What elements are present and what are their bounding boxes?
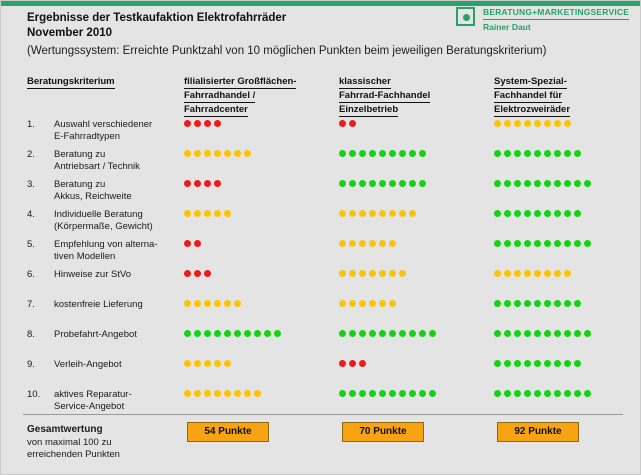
score-dot (554, 270, 561, 277)
score-dot (574, 150, 581, 157)
score-dots-column-3 (494, 180, 594, 190)
score-dot (574, 300, 581, 307)
score-dots-column-3 (494, 150, 584, 160)
colhead-0-line-0: Beratungskriterium (27, 75, 115, 89)
total-label: Gesamtwertung von maximal 100 zu erreich… (27, 424, 177, 462)
score-dot (349, 330, 356, 337)
page-title-line1: Ergebnisse der Testkaufaktion Elektrofah… (27, 11, 457, 26)
score-dot (349, 300, 356, 307)
colhead-3-line-2: Elektrozweiräder (494, 103, 570, 117)
row-number: 2. (27, 149, 35, 161)
score-dot (419, 180, 426, 187)
score-dot (399, 210, 406, 217)
score-dot (194, 240, 201, 247)
score-dot (494, 240, 501, 247)
score-dot (514, 390, 521, 397)
score-dot (369, 390, 376, 397)
score-dot (234, 390, 241, 397)
row-criterion-label: kostenfreie Lieferung (54, 299, 184, 311)
score-dot (339, 270, 346, 277)
score-dot (574, 390, 581, 397)
score-dot (184, 330, 191, 337)
score-dot (504, 210, 511, 217)
colhead-1-line-0: filialisierter Großflächen- (184, 75, 296, 89)
score-dot (184, 180, 191, 187)
score-dot (369, 240, 376, 247)
score-dot (584, 180, 591, 187)
score-dot (359, 240, 366, 247)
score-dots-column-1 (184, 240, 204, 250)
score-dot (524, 390, 531, 397)
colhead-3-line-0: System-Spezial- (494, 75, 567, 89)
score-dot (574, 210, 581, 217)
row-criterion-label-line1: Beratung zu (54, 179, 105, 190)
score-dot (544, 240, 551, 247)
row-criterion-label-line1: Auswahl verschiedener (54, 119, 152, 130)
row-number: 1. (27, 119, 35, 131)
score-dots-column-2 (339, 180, 429, 190)
score-dot (409, 210, 416, 217)
score-dot (494, 330, 501, 337)
score-dot (359, 180, 366, 187)
score-dot (514, 360, 521, 367)
score-dot (504, 270, 511, 277)
score-dot (564, 390, 571, 397)
score-dot (564, 270, 571, 277)
score-dot (224, 150, 231, 157)
column-header-filialisiert: filialisierter Großflächen- Fahrradhande… (184, 75, 296, 117)
table-row: 9.Verleih-Angebot (1, 359, 641, 389)
score-dot (494, 210, 501, 217)
score-dot (349, 150, 356, 157)
score-dot (349, 120, 356, 127)
row-criterion-label: Probefahrt-Angebot (54, 329, 184, 341)
score-dot (554, 300, 561, 307)
score-dot (409, 180, 416, 187)
score-dot (194, 120, 201, 127)
score-dot (429, 390, 436, 397)
score-dot (379, 180, 386, 187)
score-dot (369, 270, 376, 277)
score-dots-column-1 (184, 120, 224, 130)
score-dot (399, 270, 406, 277)
score-dot (429, 330, 436, 337)
score-dot (204, 120, 211, 127)
score-dot (204, 180, 211, 187)
score-dots-column-3 (494, 120, 574, 130)
score-dot (339, 300, 346, 307)
row-criterion-label: Beratung zuAkkus, Reichweite (54, 179, 184, 203)
score-dot (194, 390, 201, 397)
score-dot (544, 270, 551, 277)
score-dot (504, 390, 511, 397)
score-dot (389, 300, 396, 307)
logo-divider (483, 19, 629, 20)
score-dot (184, 150, 191, 157)
footer-divider (23, 414, 623, 415)
row-criterion-label-line2: Antriebsart / Technik (54, 161, 184, 173)
score-dot (544, 300, 551, 307)
score-dot (349, 180, 356, 187)
score-dot (494, 180, 501, 187)
score-dot (564, 240, 571, 247)
score-dot (369, 210, 376, 217)
score-dots-column-3 (494, 210, 584, 220)
column-header-criterion: Beratungskriterium (27, 75, 115, 89)
score-dot (544, 210, 551, 217)
score-dots-column-1 (184, 330, 284, 340)
total-label-line2: von maximal 100 zu (27, 437, 111, 448)
table-row: 8.Probefahrt-Angebot (1, 329, 641, 359)
header: Ergebnisse der Testkaufaktion Elektrofah… (27, 11, 457, 59)
score-dots-column-2 (339, 240, 399, 250)
row-criterion-label: Beratung zuAntriebsart / Technik (54, 149, 184, 173)
score-dot (554, 390, 561, 397)
score-dots-column-2 (339, 120, 359, 130)
score-dot (524, 300, 531, 307)
score-dot (419, 150, 426, 157)
score-dot (504, 240, 511, 247)
score-dot (379, 270, 386, 277)
score-dot (574, 330, 581, 337)
column-header-system-spezial: System-Spezial- Fachhandel für Elektrozw… (494, 75, 570, 117)
colhead-1-line-1: Fahrradhandel / (184, 89, 255, 103)
score-dot (494, 360, 501, 367)
score-dot (224, 210, 231, 217)
score-dot (214, 210, 221, 217)
score-dot (514, 330, 521, 337)
score-dot (534, 330, 541, 337)
score-dot (359, 360, 366, 367)
score-dot (339, 120, 346, 127)
score-dot (544, 330, 551, 337)
colhead-2-line-2: Einzelbetrieb (339, 103, 398, 117)
score-dot (184, 360, 191, 367)
score-dot (184, 270, 191, 277)
score-badge-klassisch: 70 Punkte (342, 422, 424, 442)
logo-dot-icon (463, 14, 470, 21)
score-dot (534, 300, 541, 307)
score-dot (224, 360, 231, 367)
score-dot (409, 330, 416, 337)
score-dot (339, 330, 346, 337)
row-criterion-label: Individuelle Beratung(Körpermaße, Gewich… (54, 209, 184, 233)
row-number: 3. (27, 179, 35, 191)
score-dot (274, 330, 281, 337)
row-criterion-label-line2: Akkus, Reichweite (54, 191, 184, 203)
score-dot (564, 150, 571, 157)
score-dot (214, 330, 221, 337)
row-criterion-label: Auswahl verschiedenerE-Fahrradtypen (54, 119, 184, 143)
score-dots-column-2 (339, 330, 439, 340)
score-dot (409, 150, 416, 157)
row-criterion-label: aktives Reparatur-Service-Angebot (54, 389, 184, 413)
score-dots-column-2 (339, 390, 439, 400)
score-dot (184, 390, 191, 397)
score-dot (379, 210, 386, 217)
score-dot (574, 360, 581, 367)
score-dot (359, 300, 366, 307)
score-dot (419, 390, 426, 397)
score-dot (339, 360, 346, 367)
row-criterion-label-line1: Empfehlung von alterna- (54, 239, 158, 250)
score-dot (194, 210, 201, 217)
score-dot (514, 240, 521, 247)
score-dot (534, 210, 541, 217)
score-dot (204, 300, 211, 307)
score-dots-column-2 (339, 210, 419, 220)
score-dot (389, 390, 396, 397)
score-dot (194, 330, 201, 337)
score-dot (514, 120, 521, 127)
score-dot (514, 210, 521, 217)
score-dot (224, 300, 231, 307)
score-dot (379, 240, 386, 247)
score-dot (399, 390, 406, 397)
score-dot (544, 180, 551, 187)
score-dot (349, 210, 356, 217)
table-row: 7.kostenfreie Lieferung (1, 299, 641, 329)
score-dot (584, 330, 591, 337)
page-title-line2: November 2010 (27, 26, 457, 41)
row-criterion-label-line2: (Körpermaße, Gewicht) (54, 221, 184, 233)
score-dot (214, 180, 221, 187)
score-dot (504, 360, 511, 367)
score-dot (534, 150, 541, 157)
score-dot (359, 390, 366, 397)
score-dot (264, 330, 271, 337)
score-dot (214, 150, 221, 157)
score-dot (399, 180, 406, 187)
score-dot (204, 210, 211, 217)
company-logo: BERATUNG+MARKETINGSERVICE Rainer Daut (456, 5, 631, 35)
score-dot (419, 330, 426, 337)
score-badge-system-spezial: 92 Punkte (497, 422, 579, 442)
table-row: 5.Empfehlung von alterna-tiven Modellen (1, 239, 641, 269)
score-dot (574, 240, 581, 247)
total-label-strong: Gesamtwertung (27, 424, 177, 437)
row-criterion-label-line1: kostenfreie Lieferung (54, 299, 143, 310)
score-dot (359, 330, 366, 337)
score-dot (514, 180, 521, 187)
score-dot (554, 120, 561, 127)
score-dot (349, 270, 356, 277)
row-criterion-label-line1: Probefahrt-Angebot (54, 329, 137, 340)
score-dots-column-1 (184, 390, 264, 400)
row-number: 9. (27, 359, 35, 371)
table-row: 6.Hinweise zur StVo (1, 269, 641, 299)
row-criterion-label-line2: E-Fahrradtypen (54, 131, 184, 143)
score-dot (204, 270, 211, 277)
score-dot (534, 270, 541, 277)
score-dot (524, 270, 531, 277)
score-dot (204, 330, 211, 337)
row-criterion-label-line1: aktives Reparatur- (54, 389, 132, 400)
table-row: 4.Individuelle Beratung(Körpermaße, Gewi… (1, 209, 641, 239)
row-criterion-label-line1: Beratung zu (54, 149, 105, 160)
score-dot (504, 180, 511, 187)
score-dot (524, 180, 531, 187)
score-dot (339, 180, 346, 187)
score-badge-filialisiert: 54 Punkte (187, 422, 269, 442)
score-dot (564, 300, 571, 307)
score-dot (544, 390, 551, 397)
total-label-line3: erreichenden Punkten (27, 449, 120, 460)
score-dot (494, 270, 501, 277)
score-dot (244, 390, 251, 397)
score-dot (184, 120, 191, 127)
score-dot (534, 360, 541, 367)
criteria-rows: 1.Auswahl verschiedenerE-Fahrradtypen2.B… (1, 119, 641, 419)
colhead-2-line-1: Fahrrad-Fachhandel (339, 89, 430, 103)
score-dot (514, 270, 521, 277)
score-dot (564, 360, 571, 367)
score-dot (389, 150, 396, 157)
score-dot (389, 210, 396, 217)
score-dot (524, 240, 531, 247)
score-dot (534, 180, 541, 187)
colhead-3-line-1: Fachhandel für (494, 89, 562, 103)
score-dots-column-1 (184, 180, 224, 190)
score-dots-column-3 (494, 360, 584, 370)
score-dot (524, 210, 531, 217)
score-dot (244, 150, 251, 157)
page-subtitle: (Wertungssystem: Erreichte Punktzahl von… (27, 43, 457, 59)
score-dot (564, 180, 571, 187)
row-criterion-label: Hinweise zur StVo (54, 269, 184, 281)
score-dot (234, 330, 241, 337)
score-dot (389, 330, 396, 337)
colhead-2-line-0: klassischer (339, 75, 391, 89)
score-dot (194, 270, 201, 277)
score-dot (554, 360, 561, 367)
score-dot (564, 330, 571, 337)
score-dot (359, 210, 366, 217)
row-criterion-label-line1: Verleih-Angebot (54, 359, 122, 370)
testkauf-result-chart: Ergebnisse der Testkaufaktion Elektrofah… (0, 0, 641, 475)
score-dot (534, 240, 541, 247)
score-dot (504, 120, 511, 127)
row-criterion-label-line2: Service-Angebot (54, 401, 184, 413)
logo-square-icon (456, 7, 475, 26)
score-dot (234, 300, 241, 307)
score-dots-column-1 (184, 210, 234, 220)
score-dot (224, 330, 231, 337)
score-dot (194, 300, 201, 307)
score-dot (369, 330, 376, 337)
score-dot (184, 240, 191, 247)
score-dots-column-1 (184, 150, 254, 160)
score-dots-column-3 (494, 330, 594, 340)
score-dot (544, 360, 551, 367)
row-criterion-label-line1: Individuelle Beratung (54, 209, 143, 220)
score-dot (524, 120, 531, 127)
column-header-klassisch: klassischer Fahrrad-Fachhandel Einzelbet… (339, 75, 430, 117)
score-dot (389, 270, 396, 277)
score-dot (514, 300, 521, 307)
logo-person-name: Rainer Daut (483, 22, 531, 32)
score-dot (544, 120, 551, 127)
score-dots-column-3 (494, 240, 594, 250)
score-dot (554, 330, 561, 337)
score-dot (584, 390, 591, 397)
row-criterion-label-line1: Hinweise zur StVo (54, 269, 131, 280)
row-number: 10. (27, 389, 40, 401)
score-dot (409, 390, 416, 397)
score-dot (554, 150, 561, 157)
table-row: 3.Beratung zuAkkus, Reichweite (1, 179, 641, 209)
score-dot (234, 150, 241, 157)
row-criterion-label-line2: tiven Modellen (54, 251, 184, 263)
score-dot (339, 210, 346, 217)
score-dot (524, 360, 531, 367)
score-dot (369, 180, 376, 187)
score-dot (339, 390, 346, 397)
score-dots-column-1 (184, 360, 234, 370)
row-number: 8. (27, 329, 35, 341)
colhead-1-line-2: Fahrradcenter (184, 103, 248, 117)
row-criterion-label: Verleih-Angebot (54, 359, 184, 371)
score-dots-column-2 (339, 360, 369, 370)
score-dot (204, 360, 211, 367)
score-dot (504, 330, 511, 337)
score-dot (349, 360, 356, 367)
score-dot (214, 390, 221, 397)
row-number: 7. (27, 299, 35, 311)
score-dot (554, 180, 561, 187)
score-dot (379, 330, 386, 337)
score-dot (244, 330, 251, 337)
score-dot (359, 270, 366, 277)
score-dot (554, 210, 561, 217)
score-dots-column-3 (494, 390, 594, 400)
table-row: 2.Beratung zuAntriebsart / Technik (1, 149, 641, 179)
score-dots-column-1 (184, 300, 244, 310)
score-dot (389, 240, 396, 247)
score-dot (379, 390, 386, 397)
score-dot (214, 360, 221, 367)
score-dot (349, 240, 356, 247)
score-dot (389, 180, 396, 187)
score-dots-column-3 (494, 270, 574, 280)
score-dot (399, 150, 406, 157)
score-dot (339, 150, 346, 157)
score-dot (514, 150, 521, 157)
score-dot (184, 210, 191, 217)
score-dot (574, 180, 581, 187)
score-dot (564, 120, 571, 127)
row-number: 5. (27, 239, 35, 251)
score-dot (184, 300, 191, 307)
score-dot (534, 390, 541, 397)
score-dot (504, 150, 511, 157)
row-number: 4. (27, 209, 35, 221)
logo-company-name: BERATUNG+MARKETINGSERVICE (483, 7, 629, 17)
score-dot (494, 120, 501, 127)
row-number: 6. (27, 269, 35, 281)
score-dot (194, 150, 201, 157)
score-dot (204, 150, 211, 157)
score-dot (224, 390, 231, 397)
score-dot (494, 150, 501, 157)
score-dot (584, 240, 591, 247)
table-row: 1.Auswahl verschiedenerE-Fahrradtypen (1, 119, 641, 149)
score-dot (214, 120, 221, 127)
score-dot (349, 390, 356, 397)
score-dots-column-2 (339, 150, 429, 160)
score-dot (339, 240, 346, 247)
score-dot (494, 390, 501, 397)
